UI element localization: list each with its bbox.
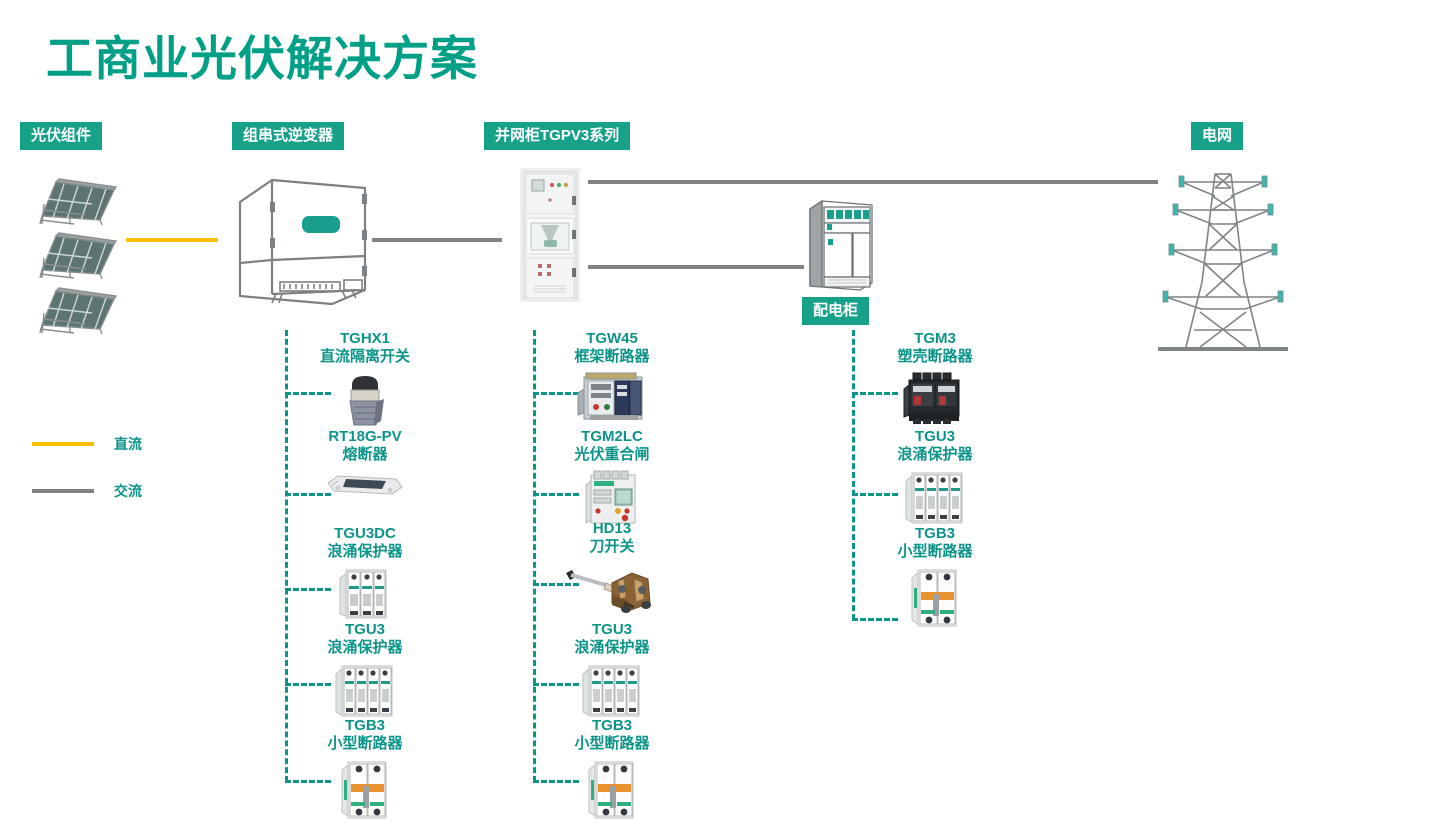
diagram-canvas: 工商业光伏解决方案 光伏组件 组串式逆变器 并网柜TGPV3系列 配电柜 电网	[0, 0, 1436, 829]
component-item[interactable]: TGM2LC 光伏重合闸	[527, 428, 697, 529]
component-desc: 小型断路器	[280, 735, 450, 753]
legend-label-dc: 直流	[114, 434, 142, 454]
mccb-icon	[850, 369, 1020, 425]
component-item[interactable]: TGB3 小型断路器	[280, 717, 450, 822]
component-code: TGM3	[850, 330, 1020, 348]
component-item[interactable]: TGHX1 直流隔离开关	[280, 330, 450, 431]
component-item[interactable]: TGU3 浪涌保护器	[280, 621, 450, 722]
distribution-cabinet-icon	[806, 195, 876, 293]
component-desc: 浪涌保护器	[527, 639, 697, 657]
pv-panel-icon-2	[26, 222, 118, 280]
badge-pv-modules[interactable]: 光伏组件	[20, 122, 102, 150]
badge-string-inverter[interactable]: 组串式逆变器	[232, 122, 344, 150]
component-desc: 塑壳断路器	[850, 348, 1020, 366]
pv-panel-icon-3	[26, 277, 118, 335]
component-desc: 熔断器	[280, 446, 450, 464]
component-code: TGB3	[280, 717, 450, 735]
component-code: TGB3	[527, 717, 697, 735]
component-desc: 直流隔离开关	[280, 348, 450, 366]
badge-distribution-cabinet[interactable]: 配电柜	[802, 297, 869, 325]
badge-grid-cabinet[interactable]: 并网柜TGPV3系列	[484, 122, 630, 150]
component-desc: 浪涌保护器	[280, 639, 450, 657]
fuse-icon	[280, 467, 450, 501]
component-desc: 框架断路器	[527, 348, 697, 366]
knife-switch-icon	[527, 559, 697, 619]
mcb-icon	[527, 756, 697, 822]
component-desc: 浪涌保护器	[850, 446, 1020, 464]
legend-swatch-ac	[32, 489, 94, 493]
component-code: TGU3DC	[280, 525, 450, 543]
legend-label-ac: 交流	[114, 481, 142, 501]
ac-line-inverter-to-grid-cabinet	[372, 238, 502, 242]
component-item[interactable]: TGB3 小型断路器	[850, 525, 1020, 630]
component-item[interactable]: RT18G-PV 熔断器	[280, 428, 450, 501]
pv-panel-icon-1	[26, 168, 118, 226]
component-code: TGB3	[850, 525, 1020, 543]
component-item[interactable]: TGM3 塑壳断路器	[850, 330, 1020, 425]
ac-line-cabinet-to-distribution	[588, 265, 804, 269]
component-desc: 小型断路器	[850, 543, 1020, 561]
component-item[interactable]: TGU3 浪涌保护器	[850, 428, 1020, 529]
component-desc: 刀开关	[527, 538, 697, 556]
component-code: RT18G-PV	[280, 428, 450, 446]
component-code: TGU3	[850, 428, 1020, 446]
component-code: HD13	[527, 520, 697, 538]
component-code: TGM2LC	[527, 428, 697, 446]
component-desc: 小型断路器	[527, 735, 697, 753]
string-inverter-icon	[232, 168, 372, 308]
component-item[interactable]: TGW45 框架断路器	[527, 330, 697, 423]
component-item[interactable]: TGB3 小型断路器	[527, 717, 697, 822]
acb-icon	[527, 369, 697, 423]
legend-item-ac: 交流	[32, 481, 142, 501]
component-code: TGU3	[527, 621, 697, 639]
dc-isolator-icon	[280, 369, 450, 431]
ac-line-cabinet-to-pylon	[588, 180, 1158, 184]
component-item[interactable]: TGU3 浪涌保护器	[527, 621, 697, 722]
grid-connection-cabinet-icon	[520, 168, 580, 302]
mcb-icon	[850, 564, 1020, 630]
component-item[interactable]: HD13 刀开关	[527, 520, 697, 619]
legend-swatch-dc	[32, 442, 94, 446]
spd-4p-icon	[850, 467, 1020, 529]
legend-item-dc: 直流	[32, 434, 142, 454]
component-code: TGW45	[527, 330, 697, 348]
dc-line-panels-to-inverter	[126, 238, 218, 242]
component-desc: 光伏重合闸	[527, 446, 697, 464]
component-code: TGHX1	[280, 330, 450, 348]
component-item[interactable]: TGU3DC 浪涌保护器	[280, 525, 450, 624]
transmission-tower-icon	[1158, 162, 1288, 357]
spd-4p-icon	[527, 660, 697, 722]
mcb-icon	[280, 756, 450, 822]
badge-power-grid[interactable]: 电网	[1191, 122, 1243, 150]
spd-3p-icon	[280, 564, 450, 624]
component-desc: 浪涌保护器	[280, 543, 450, 561]
page-title: 工商业光伏解决方案	[46, 20, 478, 89]
spd-4p-icon	[280, 660, 450, 722]
component-code: TGU3	[280, 621, 450, 639]
